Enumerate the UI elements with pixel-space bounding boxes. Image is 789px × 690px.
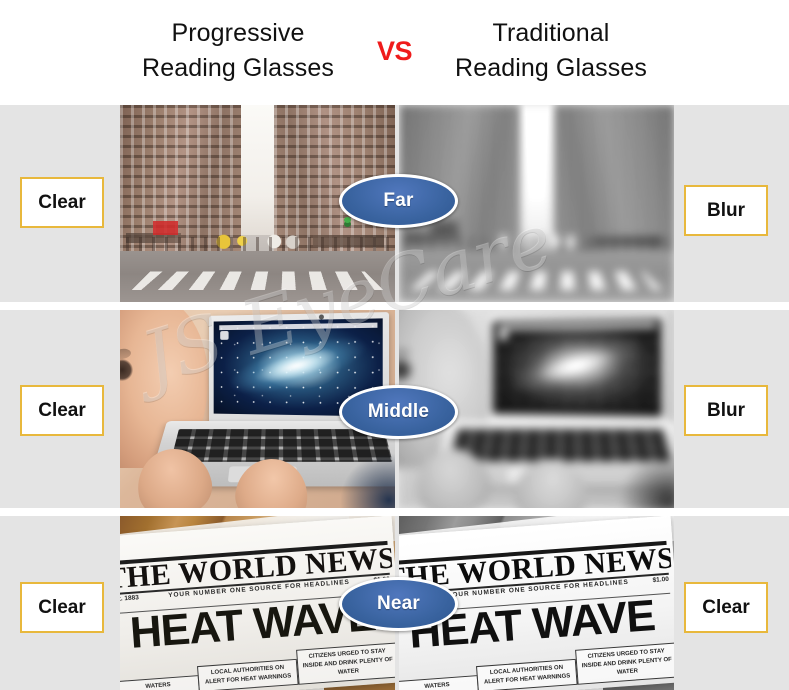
- screen-wallpaper: [493, 318, 662, 417]
- eye: [399, 358, 413, 383]
- desktop-icon: [500, 331, 508, 339]
- eye: [120, 358, 134, 383]
- left-title-line1: Progressive: [111, 16, 366, 52]
- distance-badge-middle: Middle: [339, 385, 458, 439]
- right-label-middle: Blur: [684, 385, 768, 436]
- left-title-line2: Reading Glasses: [111, 51, 366, 87]
- newspaper-subhead-2: LOCAL AUTHORITIES ON ALERT FOR HEAT WARN…: [198, 659, 299, 690]
- vs-separator: VS: [366, 36, 424, 67]
- laptop-screen: [488, 312, 667, 427]
- newspaper-subhead-3: CITIZENS URGED TO STAY INSIDE AND DRINK …: [575, 643, 674, 685]
- left-label-far: Clear: [20, 177, 104, 228]
- crosswalk: [132, 271, 382, 289]
- pedestrians: [126, 237, 390, 251]
- red-storefront-sign: [432, 221, 457, 235]
- pedestrians: [405, 237, 669, 251]
- newspaper-subhead-1: WATERS: [399, 676, 479, 690]
- newspaper-price: $1.00: [653, 576, 670, 584]
- newspaper-subhead-1: WATERS: [120, 676, 200, 690]
- background-shadow: [619, 453, 674, 508]
- left-label-middle: Clear: [20, 385, 104, 436]
- crosswalk: [411, 271, 661, 289]
- left-column-title: Progressive Reading Glasses: [111, 16, 366, 87]
- newspaper-subhead-3: CITIZENS URGED TO STAY INSIDE AND DRINK …: [296, 643, 395, 685]
- right-label-near: Clear: [684, 582, 768, 633]
- header: Progressive Reading Glasses VS Tradition…: [0, 0, 789, 102]
- desktop-icon: [221, 331, 229, 339]
- newspaper-subhead-2: LOCAL AUTHORITIES ON ALERT FOR HEAT WARN…: [477, 659, 578, 690]
- right-title-line1: Traditional: [424, 16, 679, 52]
- infographic-page: Progressive Reading Glasses VS Tradition…: [0, 0, 789, 690]
- left-label-near: Clear: [20, 582, 104, 633]
- newspaper-established: Est. 1883: [120, 595, 139, 604]
- distance-badge-far: Far: [339, 174, 458, 228]
- right-column-title: Traditional Reading Glasses: [424, 16, 679, 87]
- distance-badge-near: Near: [339, 577, 458, 631]
- background-shadow: [340, 453, 395, 508]
- right-title-line2: Reading Glasses: [424, 51, 679, 87]
- right-label-far: Blur: [684, 185, 768, 236]
- red-storefront-sign: [153, 221, 178, 235]
